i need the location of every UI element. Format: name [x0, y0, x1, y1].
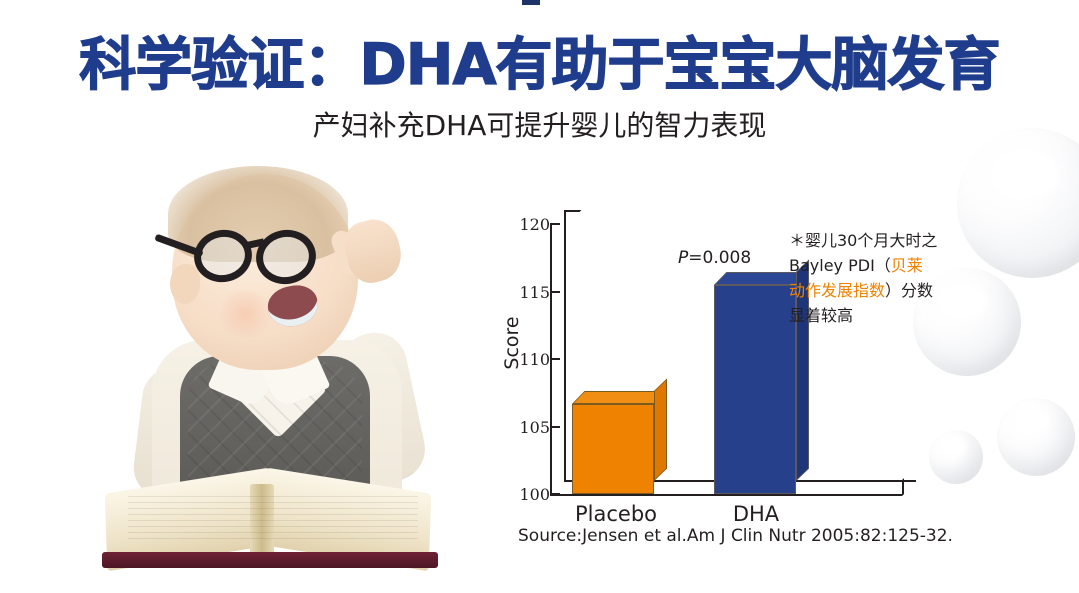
- poster-canvas: 科学验证：DHA有助于宝宝大脑发育 产妇补充DHA可提升婴儿的智力表现 Scor…: [0, 0, 1079, 593]
- page-subtitle: 产妇补充DHA可提升婴儿的智力表现: [0, 108, 1079, 144]
- book-text-lines-icon: [128, 496, 418, 542]
- y-tick-label: 110: [506, 350, 550, 369]
- bar-placebo-front-face: [572, 404, 654, 494]
- book-cover-icon: [102, 552, 438, 568]
- bar-dha-front-face: [714, 285, 796, 494]
- footnote-line-2-highlight: 贝莱: [891, 256, 923, 275]
- category-label-placebo: Placebo: [546, 502, 686, 526]
- bubble-decoration-small: [997, 398, 1075, 476]
- y-tick-label: 100: [506, 485, 550, 504]
- footnote-line-2: Bayley PDI（贝莱: [789, 253, 979, 278]
- p-value-number: =0.008: [688, 248, 751, 268]
- y-axis-back-line: [564, 210, 566, 482]
- floor-left-edge: [550, 465, 566, 496]
- bar-placebo-top-face: [572, 391, 667, 404]
- y-tick-label: 105: [506, 418, 550, 437]
- floor-right-edge: [902, 465, 918, 496]
- footnote-line-3-suffix: ）分数: [885, 281, 933, 300]
- top-marker-bar: [522, 0, 540, 5]
- p-value-symbol: P: [678, 248, 688, 268]
- footnote-line-1: ＊婴儿30个月大时之: [789, 228, 979, 253]
- bar-dha[interactable]: [714, 285, 796, 494]
- y-tick-label: 115: [506, 283, 550, 302]
- baby-photo: [110, 168, 490, 568]
- footnote-block: ＊婴儿30个月大时之 Bayley PDI（贝莱 动作发展指数）分数 显着较高: [789, 228, 979, 328]
- page-title: 科学验证：DHA有助于宝宝大脑发育: [0, 32, 1079, 98]
- bar-placebo-side-face: [654, 378, 667, 481]
- x-axis-front-line: [550, 494, 902, 496]
- y-tick-label: 120: [506, 215, 550, 234]
- footnote-line-3-highlight: 动作发展指数: [789, 281, 885, 300]
- footnote-line-3: 动作发展指数）分数: [789, 278, 979, 303]
- footnote-line-2-prefix: Bayley PDI（: [789, 256, 891, 275]
- y-axis-front-line: [550, 224, 552, 496]
- baby-cheek-icon: [214, 290, 276, 338]
- chart-source-note: Source:Jensen et al.Am J Clin Nutr 2005:…: [518, 526, 948, 546]
- p-value-annotation: P=0.008: [678, 248, 751, 268]
- baby-ear-icon: [170, 264, 200, 304]
- category-label-dha: DHA: [686, 502, 826, 526]
- bar-placebo[interactable]: [572, 404, 654, 494]
- y-axis-tick-group: 120115110105100: [498, 200, 550, 500]
- footnote-line-4: 显着较高: [789, 303, 979, 328]
